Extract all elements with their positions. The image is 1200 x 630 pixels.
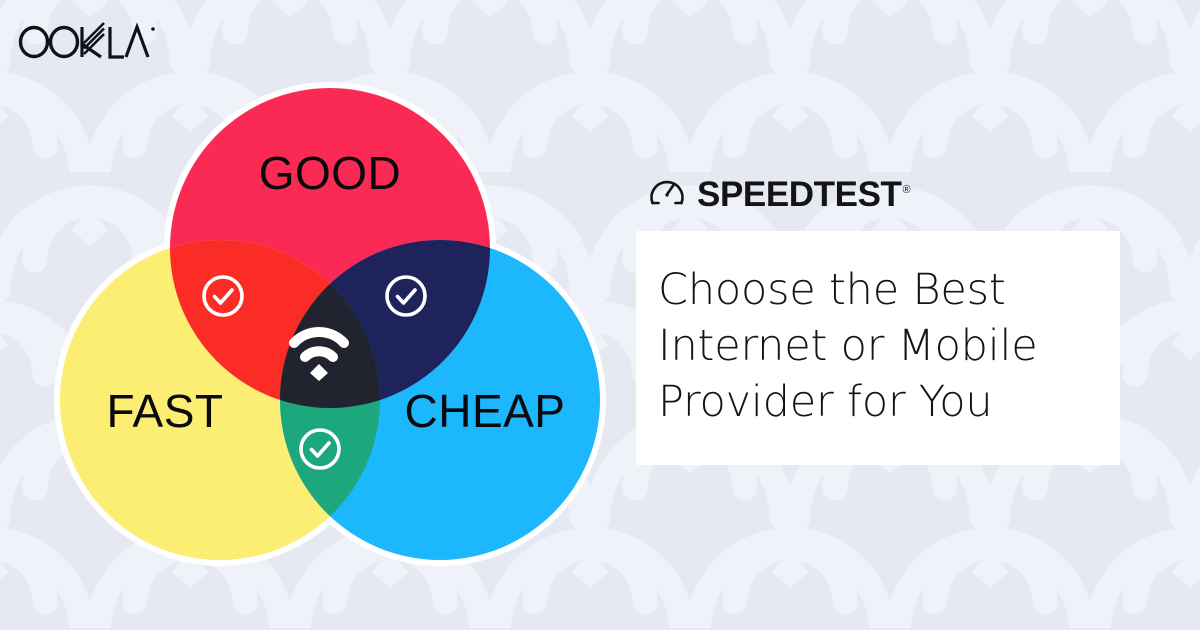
right-column: SPEEDTEST® Choose the Best Internet or M… [636,172,1136,465]
ookla-logo [18,20,158,69]
venn-label-fast: FAST [106,385,223,437]
speedtest-wordmark-text: SPEEDTEST® [697,177,910,212]
venn-label-cheap: CHEAP [405,385,566,437]
speedtest-logo: SPEEDTEST® [648,172,1136,216]
ookla-registered-mark [151,27,155,31]
speedtest-registered-mark: ® [903,184,911,196]
speedometer-gauge-icon [648,173,686,216]
headline-card: Choose the Best Internet or Mobile Provi… [636,231,1120,465]
venn-label-good: GOOD [259,147,402,199]
page-title: Choose the Best Internet or Mobile Provi… [658,263,1086,431]
venn-diagram: GOOD FAST CHEAP [52,62,608,574]
